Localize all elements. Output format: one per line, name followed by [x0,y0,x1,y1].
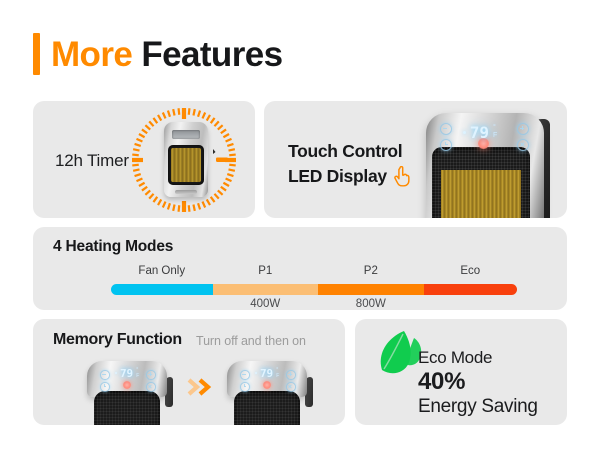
tap-hand-icon [392,166,411,187]
heater-top-after: 79 ° F [221,361,313,425]
page-title: More Features [33,30,282,78]
eco-mode-line1: Eco Mode [418,347,538,369]
memory-function-title: Memory Function [53,331,182,349]
feature-card-timer: 12h Timer [33,101,255,218]
led-display-after: 79 ° F [233,366,301,380]
heating-mode-power-2: 400W [250,298,280,310]
feature-card-memory-function: Memory Function Turn off and then on 79 … [33,319,345,425]
feature-card-heating-modes: 4 Heating Modes Fan OnlyP1P2Eco 400W800W [33,227,567,310]
feature-card-eco-mode: Eco Mode 40% Energy Saving [355,319,567,425]
heater-top-before: 79 ° F [81,361,173,425]
heating-modes-scale: Fan OnlyP1P2Eco 400W800W [111,265,517,310]
heater-closeup-image: 79 ° F [418,109,554,218]
eco-mode-line2: 40% [418,369,538,395]
heating-mode-segment-3 [318,284,424,295]
heating-modes-power-labels: 400W800W [111,298,517,310]
timer-clock-icon [100,382,110,392]
eco-mode-line3: Energy Saving [418,395,538,419]
led-unit-scale: F [136,373,139,379]
memory-function-subtitle: Turn off and then on [196,334,306,348]
feature-card-touch-control: Touch Control LED Display 79 ° F [264,101,567,218]
heater-unit-icon [164,122,208,197]
heating-modes-title: 4 Heating Modes [53,238,173,256]
touch-control-line2: LED Display [288,164,387,189]
touch-control-label: Touch Control LED Display [288,139,411,189]
heating-modes-bar [111,284,517,295]
heating-mode-label-2: P1 [258,265,272,277]
title-accent-bar [33,33,40,75]
heating-mode-segment-4 [424,284,517,295]
touch-control-line1: Touch Control [288,139,411,164]
timer-label: 12h Timer [55,151,129,171]
title-main-word: Features [141,35,282,74]
heating-mode-label-1: Fan Only [138,265,185,277]
title-accent-word: More [51,35,132,74]
heating-mode-segment-2 [213,284,319,295]
heating-mode-power-3: 800W [356,298,386,310]
heating-mode-segment-1 [111,284,213,295]
led-temperature: 79 [470,123,489,142]
heating-mode-label-4: Eco [460,265,480,277]
power-indicator [123,381,131,389]
led-temperature: 79 [120,367,133,380]
fan-icon [146,382,156,392]
double-chevron-right-icon [187,377,217,397]
power-indicator [263,381,271,389]
led-display-before: 79 ° F [93,366,161,380]
fan-icon [286,382,296,392]
led-display: 79 ° F [434,118,526,146]
title-text: More Features [51,37,282,72]
heating-modes-labels: Fan OnlyP1P2Eco [111,265,517,281]
heating-mode-label-3: P2 [364,265,378,277]
led-unit-scale: F [493,132,497,140]
eco-mode-text: Eco Mode 40% Energy Saving [418,347,538,419]
led-unit-scale: F [276,373,279,379]
timer-clock-icon [240,382,250,392]
led-unit-degree: ° [493,124,497,132]
led-temperature: 79 [260,367,273,380]
